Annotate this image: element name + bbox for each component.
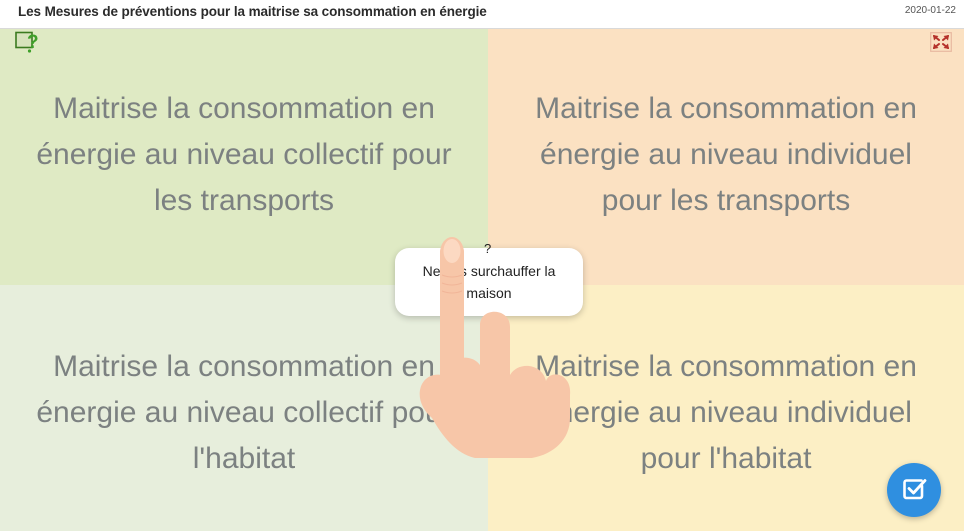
help-question-icon[interactable]: ?: [15, 31, 41, 55]
header-date: 2020-01-22: [905, 5, 956, 16]
quadrant-cell-top-right[interactable]: Maitrise la consommation en énergie au n…: [488, 29, 964, 285]
check-square-icon: [900, 475, 928, 506]
confirm-fab-button[interactable]: [887, 463, 941, 517]
page-title: Les Mesures de préventions pour la maitr…: [18, 4, 487, 19]
tooltip-question-marker: ?: [484, 241, 491, 256]
tooltip-text: Ne pas surchauffer la maison: [403, 260, 575, 304]
quadrant-label-top-left: Maitrise la consommation en énergie au n…: [0, 86, 488, 224]
page-header: Les Mesures de préventions pour la maitr…: [0, 0, 964, 29]
quadrant-label-top-right: Maitrise la consommation en énergie au n…: [488, 86, 964, 224]
quadrant-cell-bottom-left[interactable]: Maitrise la consommation en énergie au n…: [0, 285, 488, 531]
fullscreen-expand-icon[interactable]: [930, 32, 952, 52]
quadrant-label-bottom-left: Maitrise la consommation en énergie au n…: [0, 344, 488, 482]
app-root: Les Mesures de préventions pour la maitr…: [0, 0, 964, 531]
quadrant-cell-top-left[interactable]: Maitrise la consommation en énergie au n…: [0, 29, 488, 285]
tooltip-popup[interactable]: Ne pas surchauffer la maison: [395, 248, 583, 316]
quadrant-label-bottom-right: Maitrise la consommation en énergie au n…: [488, 344, 964, 482]
